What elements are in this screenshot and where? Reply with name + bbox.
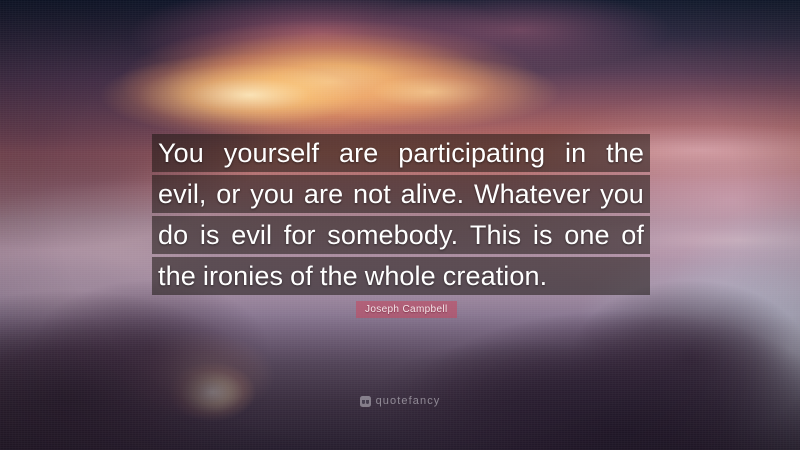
quote-word: whole <box>365 257 436 295</box>
quote-poster: Youyourselfareparticipatinginthe evil,or… <box>0 0 800 450</box>
quote-line: Youyourselfareparticipatinginthe <box>152 134 650 172</box>
quote-line: evil,oryouarenotalive.Whateveryou <box>152 175 650 213</box>
quote-word: the <box>320 257 358 295</box>
quote-word: are <box>304 175 343 213</box>
quote-word: in <box>565 134 586 172</box>
quote-line: doisevilforsomebody.Thisisoneof <box>152 216 650 254</box>
quote-line: theironiesofthewholecreation. <box>152 257 650 295</box>
quote-word: the <box>606 134 644 172</box>
author-name: Joseph Campbell <box>365 301 448 318</box>
quote-word: are <box>339 134 378 172</box>
quote-word: not <box>353 175 391 213</box>
quote-word: the <box>158 257 196 295</box>
quote-word: one <box>564 216 609 254</box>
quote-word: creation. <box>443 257 547 295</box>
quote-word: you <box>250 175 294 213</box>
quote-word: evil, <box>158 175 207 213</box>
quote-badge-icon <box>360 396 371 407</box>
quote-word: This <box>470 216 521 254</box>
quote-word: yourself <box>224 134 319 172</box>
quote-word: Whatever <box>474 175 590 213</box>
quote-word: participating <box>398 134 545 172</box>
watermark: quotefancy <box>0 396 800 407</box>
quote-word: alive. <box>401 175 465 213</box>
author-attribution: Joseph Campbell <box>356 301 457 318</box>
quote-word: or <box>216 175 240 213</box>
quote-word: do <box>158 216 188 254</box>
quote-word: of <box>290 257 313 295</box>
quote-word: for <box>284 216 316 254</box>
watermark-label: quotefancy <box>376 396 441 407</box>
quote-word: somebody. <box>327 216 458 254</box>
quote-word: evil <box>231 216 272 254</box>
quote-word: is <box>200 216 220 254</box>
quote-text-block: Youyourselfareparticipatinginthe evil,or… <box>152 134 650 298</box>
quote-word: you <box>600 175 644 213</box>
quote-word: ironies <box>203 257 283 295</box>
quote-word: of <box>621 216 644 254</box>
quote-word: is <box>533 216 553 254</box>
quote-word: You <box>158 134 204 172</box>
